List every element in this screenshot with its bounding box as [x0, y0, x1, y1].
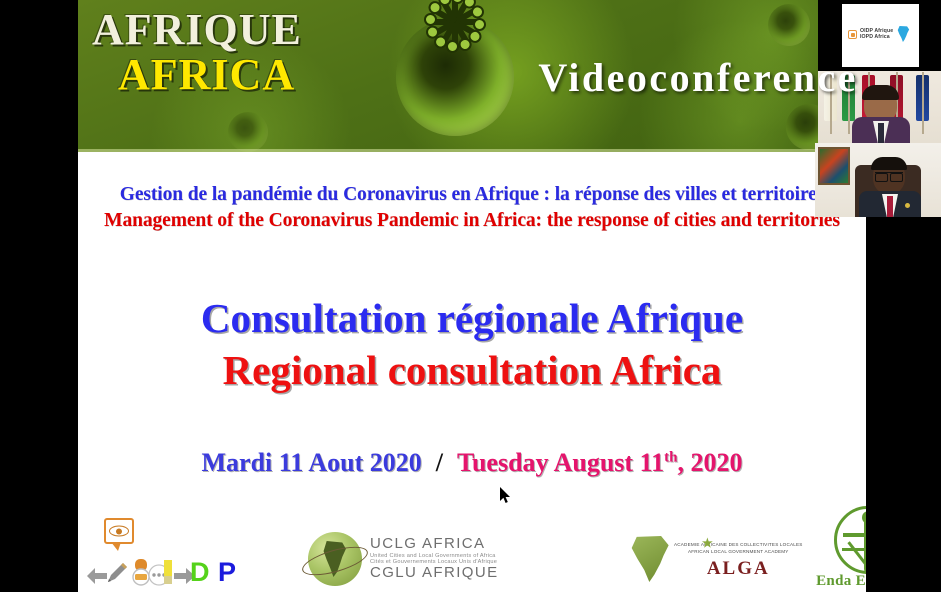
alga-line2: AFRICAN LOCAL GOVERNMENT ACADEMY [674, 549, 803, 556]
africa-map-blue-icon [897, 26, 910, 42]
slide-date-en: Tuesday August 11th, 2020 [457, 448, 742, 477]
star-icon: ★ [702, 536, 715, 551]
participant-video-3 [815, 143, 941, 217]
screen-root: AFRIQUE AFRICA Videoconference Gestion d… [0, 0, 941, 592]
alga-logo: ACADEMIE AFRICAINE DES COLLECTIVITES LOC… [630, 536, 803, 582]
participant-avatar-2 [852, 87, 910, 143]
coronavirus-icon-small-3 [228, 112, 268, 152]
slide-title-group: Consultation régionale Afrique Regional … [78, 292, 866, 397]
slide-main-title-fr: Consultation régionale Afrique [78, 292, 866, 344]
banner-title-fr: AFRIQUE [92, 8, 302, 53]
banner-event-type: Videoconference [538, 54, 858, 101]
slide-subtitle-fr: Gestion de la pandémie du Coronavirus en… [78, 182, 866, 208]
eye-callout-icon[interactable] [104, 518, 134, 544]
tool-letter-d-label: D [190, 557, 210, 587]
tool-letter-d[interactable]: D [190, 559, 210, 586]
slide-date-fr: Mardi 11 Aout 2020 [201, 448, 421, 477]
presentation-slide[interactable]: AFRIQUE AFRICA Videoconference Gestion d… [78, 0, 866, 592]
slide-date-en-ordinal: th [664, 449, 677, 465]
uclg-line1: UCLG AFRICA [370, 536, 499, 553]
alga-acronym: ★ ALGA [674, 558, 803, 580]
tool-letter-p-label: P [218, 557, 236, 587]
participant-tile-3[interactable] [815, 143, 941, 217]
africa-map-icon [630, 536, 672, 582]
ecopop-label: Enda ECOPOP [814, 573, 866, 590]
slide-date-en-text: Tuesday August 11 [457, 448, 664, 477]
banner-title-group: AFRIQUE AFRICA [92, 8, 302, 98]
coronavirus-icon [396, 18, 514, 136]
slide-date-separator: / [422, 448, 457, 477]
coronavirus-icon-small-1 [768, 4, 810, 46]
oidp-mark-icon [848, 30, 857, 39]
slide-banner: AFRIQUE AFRICA Videoconference [78, 0, 866, 152]
uclg-africa-logo: UCLG AFRICA United Cities and Local Gove… [308, 532, 499, 586]
tool-letter-p[interactable]: P [218, 559, 236, 586]
oidp-afrique-logo: OIDP Afrique IOPD Africa [848, 26, 910, 42]
pencil-icon[interactable] [104, 560, 130, 586]
enda-ecopop-logo: Enda ECOPOP [814, 506, 866, 590]
flag-icon-5 [916, 75, 929, 121]
uclg-line4: CGLU AFRIQUE [370, 565, 499, 582]
slide-subtitle-group: Gestion de la pandémie du Coronavirus en… [78, 182, 866, 235]
oidp-logo-line2: IOPD Africa [860, 34, 893, 41]
alga-line1: ACADEMIE AFRICAINE DES COLLECTIVITES LOC… [674, 542, 803, 549]
banner-title-en: AFRICA [118, 53, 302, 98]
participant-avatar-3 [859, 159, 921, 217]
slide-subtitle-en: Management of the Coronavirus Pandemic i… [78, 208, 866, 234]
wall-art-icon [818, 147, 850, 185]
annotation-toolbar[interactable]: D P [86, 514, 266, 592]
alga-acronym-text: ALGA [707, 558, 770, 579]
slide-date-en-year: , 2020 [678, 448, 743, 477]
slide-main-title-en: Regional consultation Africa [78, 344, 866, 396]
globe-africa-icon [308, 532, 362, 586]
mouse-cursor [500, 487, 512, 505]
ecopop-emblem-icon [834, 506, 866, 574]
slide-date-line: Mardi 11 Aout 2020/Tuesday August 11th, … [78, 448, 866, 478]
